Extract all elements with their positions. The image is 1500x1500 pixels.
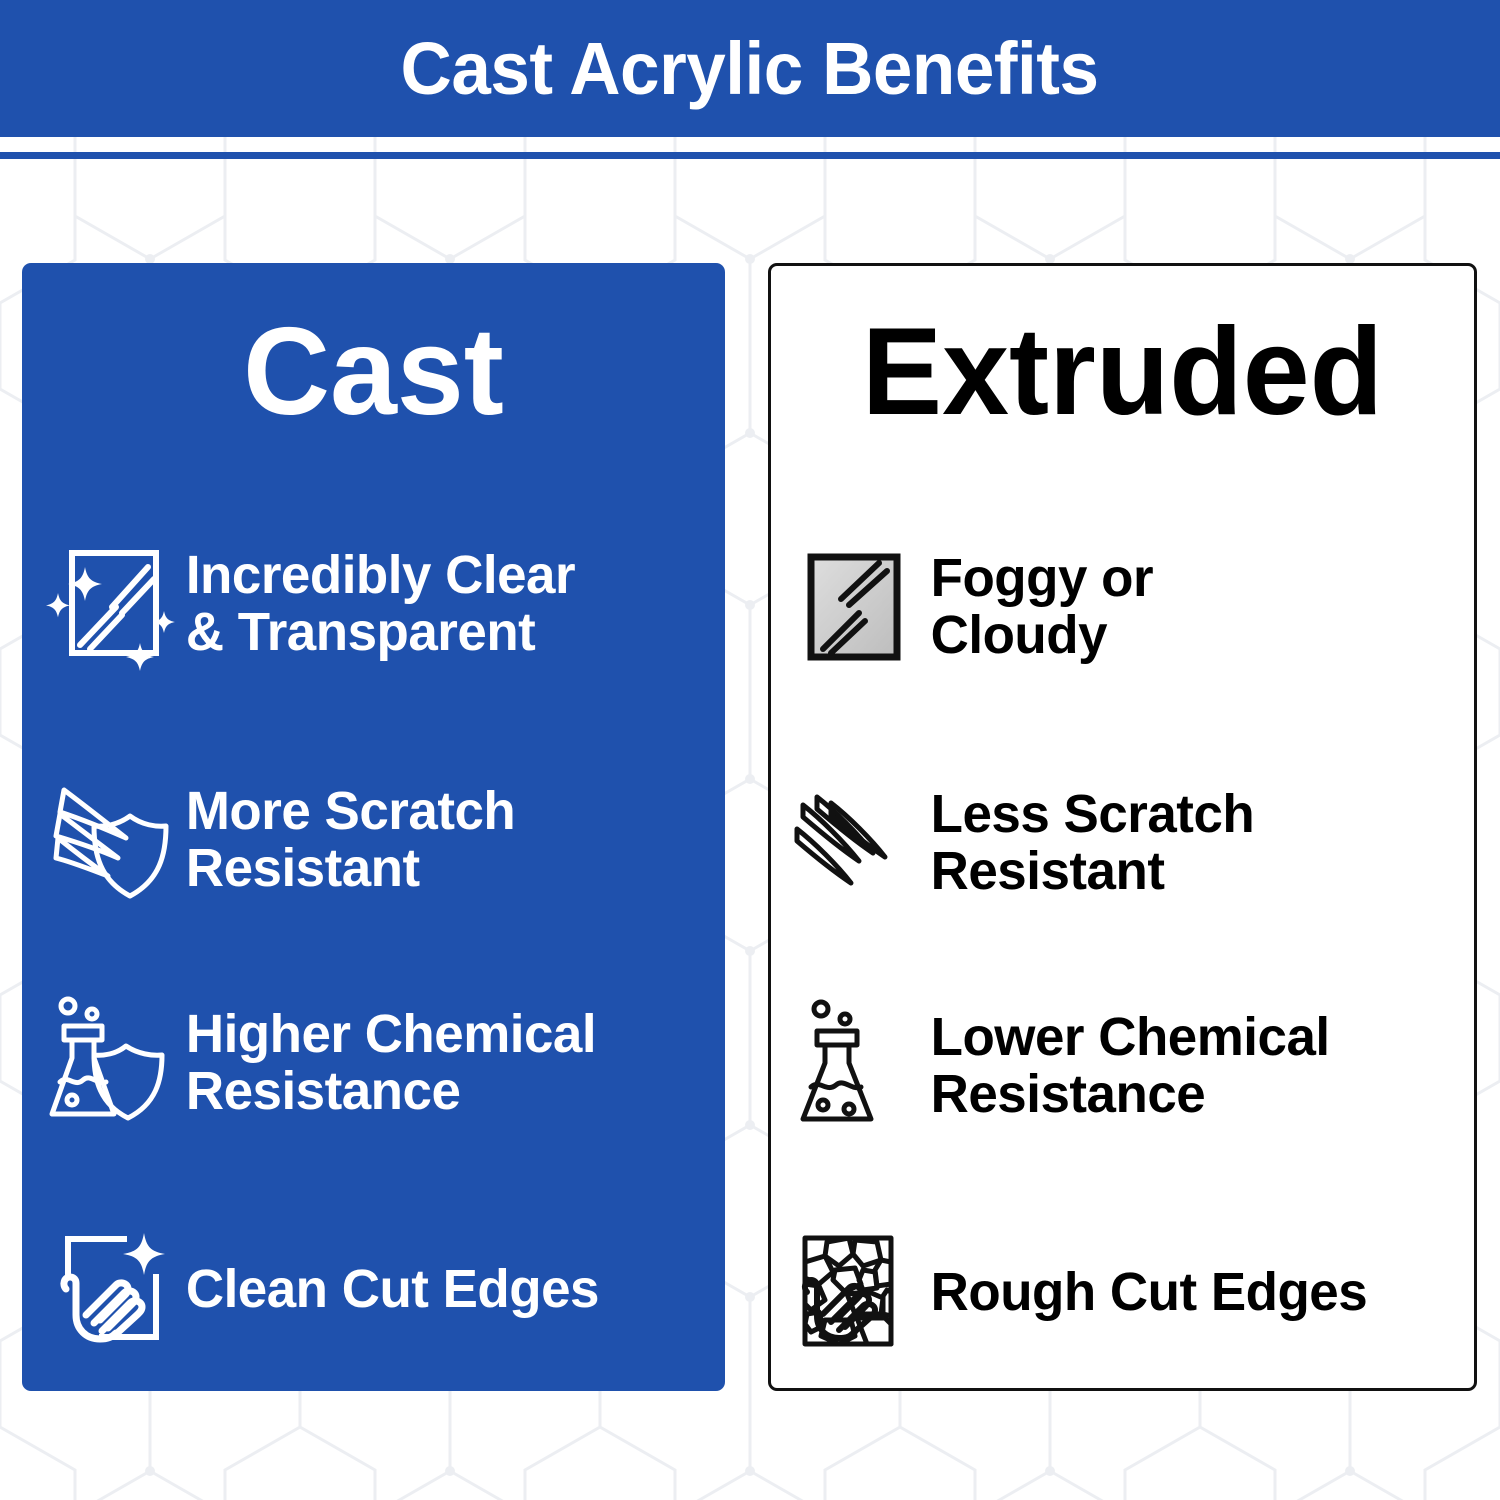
- list-item-extruded-foggy: Foggy or Cloudy: [787, 542, 1467, 672]
- list-item-cast-scratch: More Scratch Resistant: [46, 775, 706, 905]
- comparison-section: Cast: [0, 263, 1500, 1391]
- list-item-extruded-edges: Rough Cut Edges: [787, 1232, 1467, 1352]
- clear-glass-sparkle-icon: [46, 544, 178, 664]
- list-item-extruded-chemical: Lower Chemical Resistance: [787, 996, 1467, 1136]
- list-item-label: More Scratch Resistant: [178, 783, 695, 896]
- cast-panel: Cast: [22, 263, 725, 1391]
- page-header-band: Cast Acrylic Benefits: [0, 0, 1500, 137]
- list-item-cast-edges: Clean Cut Edges: [46, 1229, 706, 1349]
- header-divider-rule: [0, 152, 1500, 159]
- flask-shield-icon: [46, 1003, 178, 1123]
- foggy-glass-icon: [787, 547, 913, 667]
- extruded-benefit-list: Foggy or Cloudy Less Scratch Resistant: [771, 266, 1474, 1388]
- extruded-panel: Extruded: [768, 263, 1477, 1391]
- list-item-extruded-scratch: Less Scratch Resistant: [787, 778, 1467, 908]
- page-title: Cast Acrylic Benefits: [401, 32, 1099, 106]
- list-item-label: Foggy or Cloudy: [913, 550, 1456, 663]
- rough-edge-stone-icon: [787, 1232, 913, 1352]
- scratch-marks-icon: [787, 783, 913, 903]
- list-item-cast-clear: Incredibly Clear & Transparent: [46, 539, 706, 669]
- list-item-label: Rough Cut Edges: [913, 1264, 1456, 1321]
- clean-edge-wipe-icon: [46, 1229, 178, 1349]
- list-item-label: Less Scratch Resistant: [913, 786, 1456, 899]
- list-item-label: Lower Chemical Resistance: [913, 1009, 1456, 1122]
- cast-benefit-list: Incredibly Clear & Transparent More Scra…: [22, 263, 725, 1391]
- list-item-label: Incredibly Clear & Transparent: [178, 547, 695, 660]
- scratch-shield-icon: [46, 780, 178, 900]
- list-item-cast-chemical: Higher Chemical Resistance: [46, 993, 706, 1133]
- list-item-label: Higher Chemical Resistance: [178, 1006, 695, 1119]
- flask-icon: [787, 1006, 913, 1126]
- list-item-label: Clean Cut Edges: [178, 1261, 695, 1318]
